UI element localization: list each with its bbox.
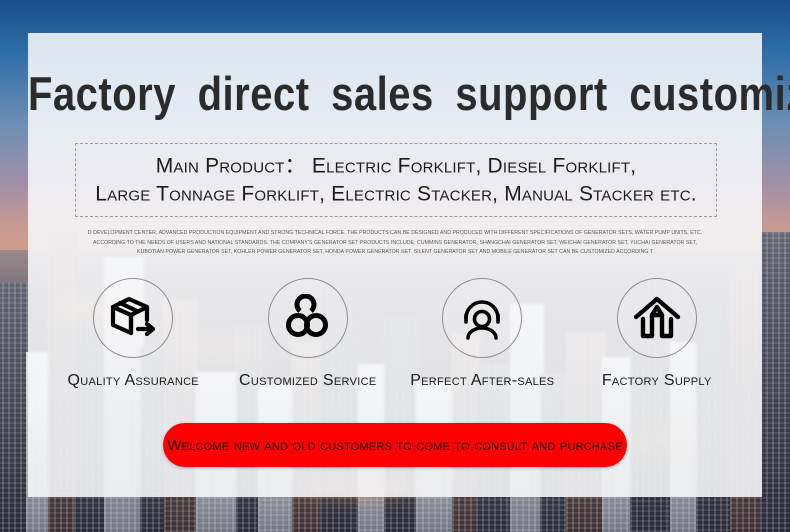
headset-support-icon <box>457 295 507 341</box>
main-product-text: Main Product： Electric Forklift, Diesel … <box>76 152 716 207</box>
page-title: Factory direct sales support customizati… <box>28 71 762 118</box>
cta-button-label: Welcome new and old customers to come to… <box>167 437 622 454</box>
feature-icon-circle <box>617 278 697 358</box>
feature-label: Factory Supply <box>582 372 732 390</box>
description-line-1: D DEVELOPMENT CENTER, ADVANCED PRODUCTIO… <box>52 229 738 239</box>
main-product-line-1: Main Product： Electric Forklift, Diesel … <box>76 152 716 180</box>
description-line-2: ACCORDING TO THE NEEDS OF USERS AND NATI… <box>52 239 738 249</box>
content-panel: Factory direct sales support customizati… <box>28 33 762 497</box>
main-product-box: Main Product： Electric Forklift, Diesel … <box>75 143 717 217</box>
three-rings-icon <box>284 294 332 342</box>
feature-factory-supply[interactable]: Factory Supply <box>582 278 732 390</box>
banner-stage: Factory direct sales support customizati… <box>0 0 790 532</box>
company-description: D DEVELOPMENT CENTER, ADVANCED PRODUCTIO… <box>52 229 738 258</box>
feature-label: Customized Service <box>233 372 383 390</box>
main-product-line-2: Large Tonnage Forklift, Electric Stacker… <box>76 180 716 208</box>
feature-icon-circle <box>268 278 348 358</box>
feature-perfect-after-sales[interactable]: Perfect After-sales <box>407 278 557 390</box>
feature-quality-assurance[interactable]: Quality Assurance <box>58 278 208 390</box>
description-line-3: KUBOTIAN POWER GENERATOR SET, KOHLER POW… <box>52 248 738 258</box>
feature-list: Quality Assurance Customized S <box>28 278 762 390</box>
package-arrow-icon <box>107 294 159 342</box>
house-up-arrow-icon <box>632 295 682 341</box>
feature-icon-circle <box>442 278 522 358</box>
feature-customized-service[interactable]: Customized Service <box>233 278 383 390</box>
feature-label: Perfect After-sales <box>407 372 557 390</box>
cta-button[interactable]: Welcome new and old customers to come to… <box>163 423 627 467</box>
feature-label: Quality Assurance <box>58 372 208 390</box>
feature-icon-circle <box>93 278 173 358</box>
